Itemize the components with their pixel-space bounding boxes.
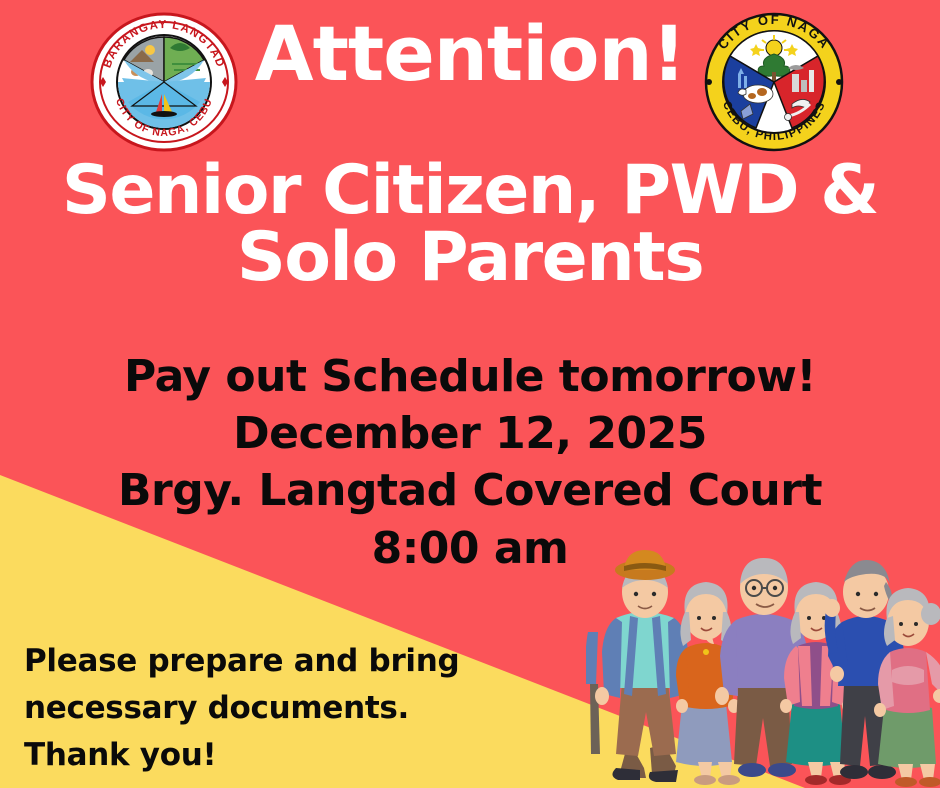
city-of-naga-seal-logo: CITY OF NAGA CEBU, PHILIPPINES — [700, 12, 848, 152]
footnote-line-2: necessary documents. — [24, 685, 544, 732]
elderly-group-illustration — [586, 536, 940, 788]
footnote-line-1: Please prepare and bring — [24, 638, 544, 685]
poster-header: BARANGAY LANGTAD CITY OF NAGA, CEBU Atte… — [0, 0, 940, 152]
elderly-group-icon — [586, 536, 940, 788]
city-of-naga-seal-icon: CITY OF NAGA CEBU, PHILIPPINES — [700, 12, 848, 152]
announcement-poster: BARANGAY LANGTAD CITY OF NAGA, CEBU Atte… — [0, 0, 940, 788]
footnote-line-3: Thank you! — [24, 732, 544, 779]
footnote: Please prepare and bring necessary docum… — [24, 638, 544, 779]
detail-payout-schedule: Pay out Schedule tomorrow! — [0, 348, 940, 405]
headline-line-2: Solo Parents — [0, 225, 940, 292]
person-6-woman-rose — [874, 588, 940, 787]
detail-date: December 12, 2025 — [0, 405, 940, 462]
detail-venue: Brgy. Langtad Covered Court — [0, 462, 940, 519]
headline: Senior Citizen, PWD & Solo Parents — [0, 158, 940, 291]
